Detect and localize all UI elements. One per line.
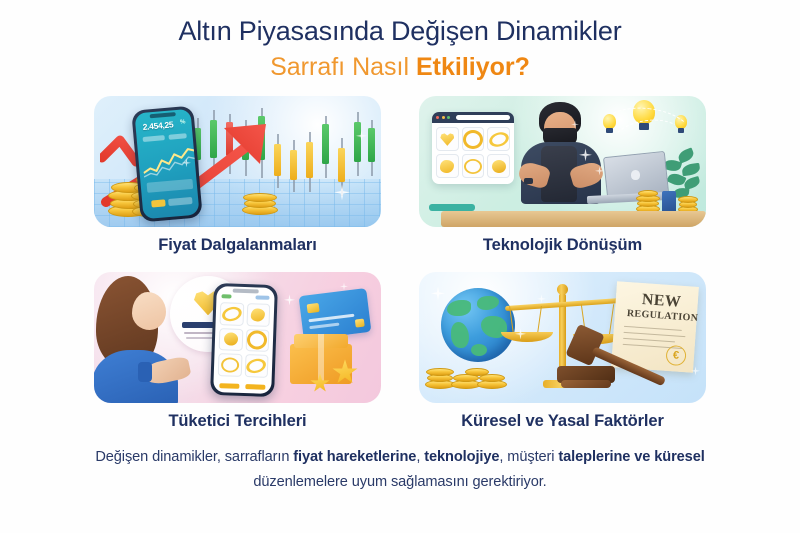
card-caption-consumer-preferences: Tüketici Tercihleri	[94, 412, 381, 431]
ring-icon	[247, 331, 268, 351]
blue-box	[662, 191, 676, 213]
heading-secondary-accent: Etkiliyor?	[416, 53, 530, 81]
illustration-consumer-preferences	[94, 272, 381, 403]
phone-notch	[150, 112, 176, 118]
gold-coin-icon	[492, 160, 506, 173]
smartphone-shopping-app[interactable]	[210, 283, 278, 397]
woman-face	[132, 292, 166, 330]
browser-dot-green	[447, 116, 450, 119]
gold-price-value: 2.454,25	[142, 120, 173, 133]
app-product-tile[interactable]	[246, 303, 270, 326]
open-bangle-icon	[221, 358, 240, 374]
gold-nugget-icon	[440, 160, 454, 173]
card-caption-global-legal-factors: Küresel ve Yasal Faktörler	[419, 412, 706, 431]
app-product-tile[interactable]	[219, 328, 243, 351]
footer-part-1: Değişen dinamikler, sarrafların	[95, 449, 293, 465]
woman-cuff	[138, 362, 152, 382]
illustration-price-volatility: 2.454,25 %	[94, 96, 381, 227]
footer-part-4: düzenlemelere uyum sağlamasını gerektiri…	[253, 474, 546, 490]
gold-nugget-icon	[251, 308, 265, 321]
open-bangle-icon	[464, 159, 482, 174]
card-grid: 2.454,25 %	[94, 96, 706, 431]
infographic-poster: Altın Piyasasında Değişen Dinamikler Sar…	[0, 0, 800, 533]
illustration-global-legal-factors: NEW REGULATION €	[419, 272, 706, 403]
bracelet-icon	[245, 357, 268, 376]
credit-card	[299, 288, 372, 340]
card-consumer-preferences[interactable]: Tüketici Tercihleri	[94, 272, 381, 431]
browser-dot-yellow	[442, 116, 445, 119]
side-table	[429, 204, 475, 211]
footer-summary: Değişen dinamikler, sarrafların fiyat ha…	[82, 445, 718, 495]
scale-pan-left	[501, 332, 553, 342]
gold-price-change: %	[180, 120, 186, 126]
app-product-tile[interactable]	[244, 355, 268, 378]
bangle-icon	[487, 130, 510, 149]
card-technological-transformation[interactable]: Teknolojik Dönüşüm	[419, 96, 706, 255]
gavel-icon	[557, 328, 687, 394]
heading-line-primary: Altın Piyasasında Değişen Dinamikler	[0, 14, 800, 49]
browser-title-bar	[432, 112, 514, 123]
product-tile-grid	[432, 123, 514, 182]
heading-line-secondary: Sarrafı Nasıl Etkiliyor?	[0, 49, 800, 85]
person-watch	[524, 178, 533, 184]
card-caption-technological-transformation: Teknolojik Dönüşüm	[419, 236, 706, 255]
browser-product-grid[interactable]	[432, 112, 514, 184]
desk-gold-coins	[636, 181, 696, 213]
laptop-logo-icon	[631, 170, 640, 180]
product-tile[interactable]	[487, 127, 510, 151]
browser-dot-red	[436, 116, 439, 119]
card-price-volatility[interactable]: 2.454,25 %	[94, 96, 381, 255]
app-product-tile[interactable]	[218, 354, 242, 377]
product-tile[interactable]	[436, 154, 459, 178]
product-tile[interactable]	[487, 154, 510, 178]
idea-bulbs-group	[601, 98, 701, 144]
phone-screen: 2.454,25 %	[134, 109, 199, 219]
card-caption-price-volatility: Fiyat Dalgalanmaları	[94, 236, 381, 255]
illustration-technological-transformation	[419, 96, 706, 227]
app-product-tile[interactable]	[245, 329, 269, 352]
phone-sparkline-chart	[141, 143, 199, 182]
card-global-legal-factors[interactable]: NEW REGULATION €	[419, 272, 706, 431]
poster-heading: Altın Piyasasında Değişen Dinamikler Sar…	[0, 0, 800, 85]
card-chip-icon	[307, 303, 320, 313]
gold-coin-side-stack	[242, 189, 284, 215]
footer-bold-3: taleplerine ve küresel	[558, 449, 704, 465]
workbench-surface	[441, 211, 706, 227]
heading-secondary-normal: Sarrafı Nasıl	[270, 53, 416, 81]
browser-url-bar[interactable]	[456, 115, 511, 120]
footer-part-3: , müşteri	[499, 449, 558, 465]
footer-bold-2: teknolojiye	[424, 449, 499, 465]
bangle-icon	[220, 305, 243, 324]
ring-icon	[463, 130, 483, 149]
smartphone[interactable]: 2.454,25 %	[131, 106, 203, 223]
product-tile[interactable]	[462, 127, 485, 151]
app-product-tile[interactable]	[220, 302, 244, 325]
heart-pendant-icon	[440, 133, 454, 146]
gold-coin-icon	[224, 333, 238, 346]
footer-bold-1: fiyat hareketlerine	[293, 449, 416, 465]
phone-notch	[233, 289, 259, 294]
shopping-app-screen	[213, 286, 275, 394]
product-tile[interactable]	[462, 154, 485, 178]
product-tile[interactable]	[436, 127, 459, 151]
document-title-line2: REGULATION	[626, 308, 698, 324]
jeweler-person	[515, 102, 611, 208]
